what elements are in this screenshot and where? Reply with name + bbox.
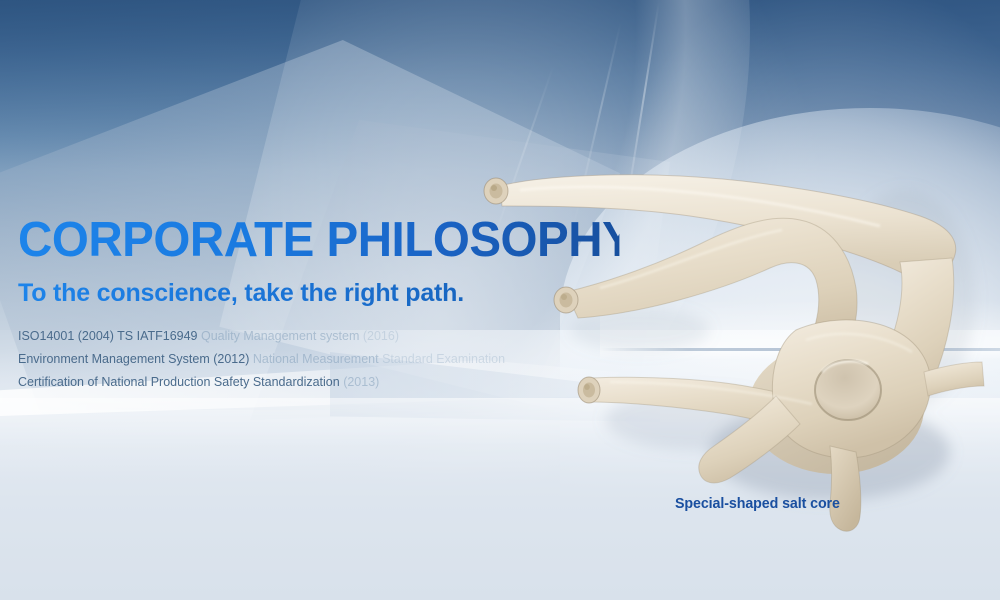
certification-text-faded-tail: (2016)	[359, 329, 399, 343]
corporate-philosophy-banner: CORPORATE PHILOSOPHY To the conscience, …	[0, 0, 1000, 600]
certification-text: Certification of National Production Saf…	[18, 375, 340, 389]
certification-line: Certification of National Production Saf…	[18, 371, 638, 394]
surface-sheen	[0, 398, 1000, 478]
page-title: CORPORATE PHILOSOPHY	[18, 213, 619, 267]
certification-text: ISO14001 (2004) TS IATF16949	[18, 329, 201, 343]
certification-text-faded: (2013)	[340, 375, 380, 389]
certification-list: ISO14001 (2004) TS IATF16949 Quality Man…	[18, 325, 638, 394]
page-subtitle: To the conscience, take the right path.	[18, 278, 638, 308]
certification-line: ISO14001 (2004) TS IATF16949 Quality Man…	[18, 325, 638, 348]
horizon-glow	[600, 300, 1000, 360]
horizon-line	[600, 348, 1000, 351]
certification-text-faded-tail: Standard Examination	[382, 352, 505, 366]
product-caption: Special-shaped salt core	[675, 495, 840, 512]
certification-text: Environment Management System (2012)	[18, 352, 253, 366]
certification-text-faded: Quality Management system	[201, 329, 359, 343]
banner-text-block: CORPORATE PHILOSOPHY To the conscience, …	[18, 213, 638, 394]
certification-text-faded: National Measurement	[253, 352, 382, 366]
certification-line: Environment Management System (2012) Nat…	[18, 348, 638, 371]
